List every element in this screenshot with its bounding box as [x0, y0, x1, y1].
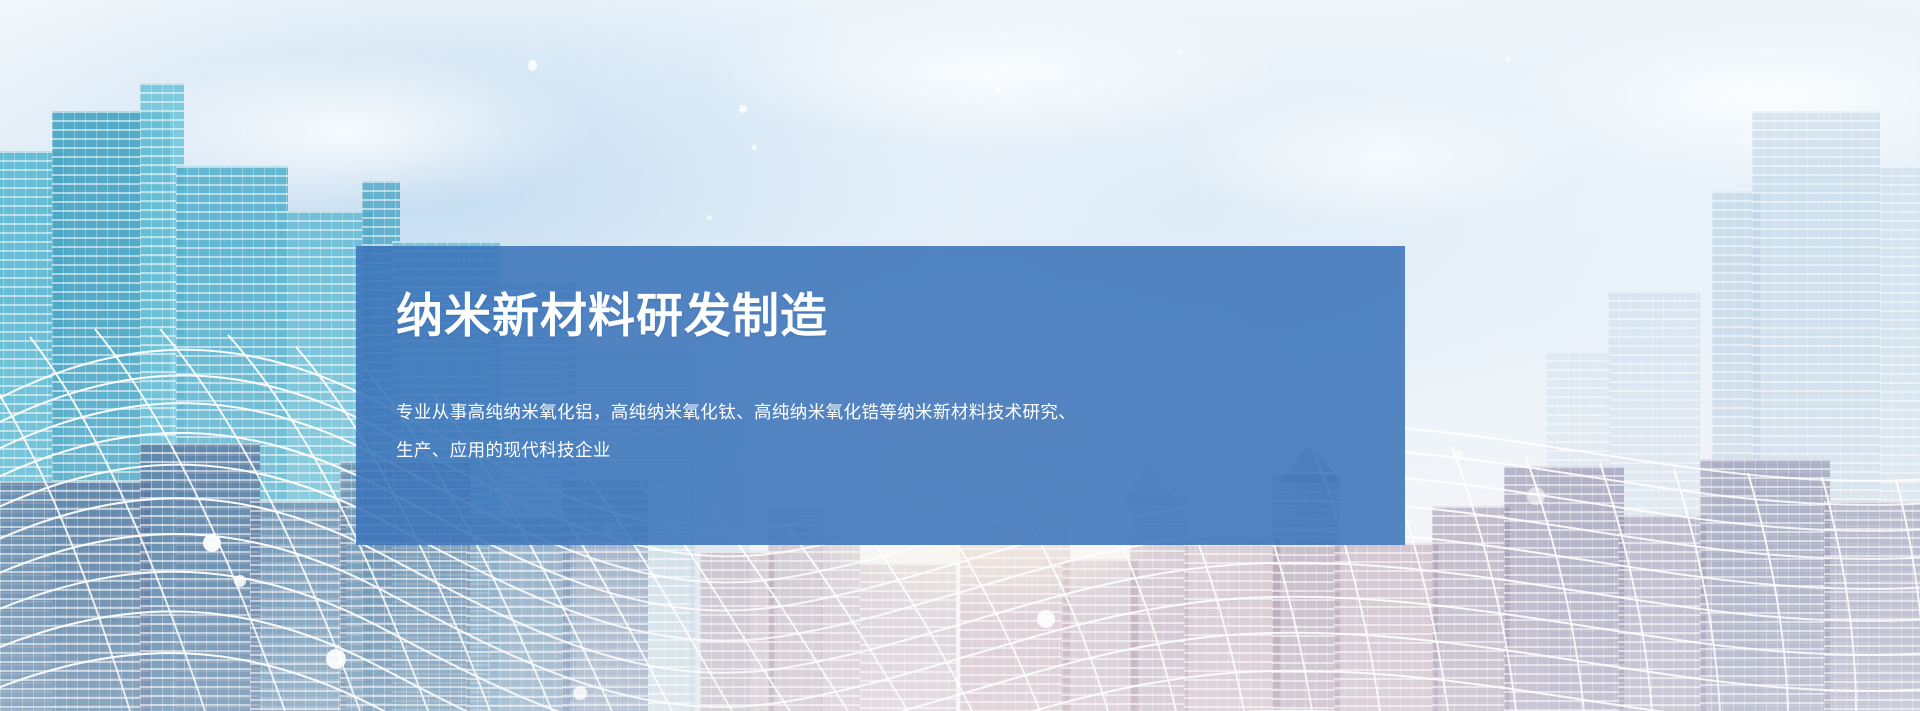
bokeh-dot: [995, 87, 1001, 93]
page-title: 纳米新材料研发制造: [396, 290, 1359, 339]
hero-subtitle-line-1: 专业从事高纯纳米氧化铝，高纯纳米氧化钛、高纯纳米氧化锆等纳米新材料技术研究、: [396, 393, 1186, 431]
bokeh-dot: [1452, 450, 1463, 461]
hero-banner: 纳米新材料研发制造 专业从事高纯纳米氧化铝，高纯纳米氧化钛、高纯纳米氧化锆等纳米…: [0, 0, 1920, 711]
bokeh-dot: [739, 105, 747, 113]
bokeh-dot: [707, 215, 712, 220]
bokeh-dot: [752, 145, 757, 150]
bokeh-dot: [1178, 50, 1183, 55]
hero-text-panel: 纳米新材料研发制造 专业从事高纯纳米氧化铝，高纯纳米氧化钛、高纯纳米氧化锆等纳米…: [356, 246, 1405, 545]
bokeh-dot: [528, 60, 537, 71]
bokeh-dot: [1505, 56, 1511, 62]
bokeh-dot: [1527, 487, 1545, 505]
hero-subtitle-line-2: 生产、应用的现代科技企业: [396, 431, 1186, 469]
bokeh-dot: [944, 63, 948, 67]
hero-subtitle: 专业从事高纯纳米氧化铝，高纯纳米氧化钛、高纯纳米氧化锆等纳米新材料技术研究、 生…: [396, 393, 1186, 469]
